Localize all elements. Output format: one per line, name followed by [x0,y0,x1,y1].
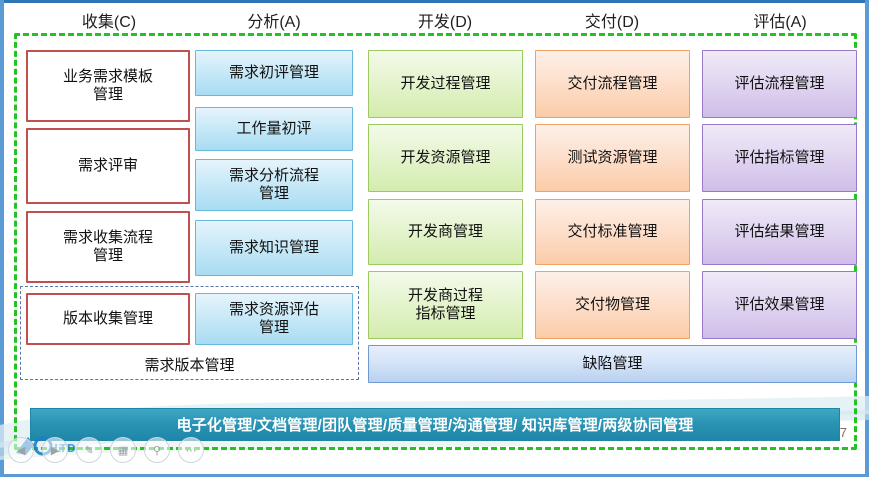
page-number: 7 [840,425,847,440]
card-develop-2-label: 开发资源管理 [400,149,490,167]
card-delivery-4[interactable]: 交付物管理 [535,271,690,339]
card-analysis-1[interactable]: 需求初评管理 [195,50,353,96]
slide-grid-button[interactable]: ▦ [110,437,136,463]
column-header-evaluate: 评估(A) [700,8,860,32]
column-header-analysis: 分析(A) [193,8,355,32]
card-collect-2[interactable]: 需求评审 [26,128,190,204]
card-evaluate-2[interactable]: 评估指标管理 [702,124,857,192]
card-delivery-1[interactable]: 交付流程管理 [535,50,690,118]
card-evaluate-2-label: 评估指标管理 [734,149,824,167]
card-analysis-4-label: 需求知识管理 [229,239,319,257]
card-evaluate-1-label: 评估流程管理 [734,75,824,93]
viewer-chrome: LTD ◀ ▶ ✎ ▦ ⚲ ⋯ [8,431,208,469]
column-header-collect-label: 收集(C) [82,14,136,31]
card-analysis-1-label: 需求初评管理 [229,64,319,82]
column-header-develop: 开发(D) [366,8,524,32]
next-slide-button[interactable]: ▶ [42,437,68,463]
column-header-analysis-label: 分析(A) [247,14,300,31]
card-develop-4-label: 开发商过程 指标管理 [408,287,483,322]
card-analysis-2-label: 工作量初评 [236,120,311,138]
column-header-develop-label: 开发(D) [418,14,472,31]
card-delivery-4-label: 交付物管理 [575,296,650,314]
card-collect-1-label: 业务需求模板 管理 [63,68,153,103]
column-header-evaluate-label: 评估(A) [753,14,806,31]
card-evaluate-4-label: 评估效果管理 [734,296,824,314]
version-management-group: 需求版本管理 [20,286,359,380]
card-delivery-2[interactable]: 测试资源管理 [535,124,690,192]
zoom-button[interactable]: ⚲ [144,437,170,463]
column-header-delivery-label: 交付(D) [585,14,639,31]
pen-tool-button[interactable]: ✎ [76,437,102,463]
card-analysis-4[interactable]: 需求知识管理 [195,220,353,276]
card-analysis-3-label: 需求分析流程 管理 [229,167,319,202]
card-develop-3[interactable]: 开发商管理 [368,199,523,265]
card-develop-2[interactable]: 开发资源管理 [368,124,523,192]
card-delivery-3-label: 交付标准管理 [567,223,657,241]
card-develop-1-label: 开发过程管理 [400,75,490,93]
column-header-collect: 收集(C) [26,8,192,32]
card-collect-3[interactable]: 需求收集流程 管理 [26,211,190,283]
slide-frame-top [0,0,869,3]
slide-frame-right [865,0,869,477]
more-options-button[interactable]: ⋯ [178,437,204,463]
card-analysis-3[interactable]: 需求分析流程 管理 [195,159,353,211]
page-number-label: 7 [840,425,847,440]
prev-slide-button[interactable]: ◀ [8,437,34,463]
card-delivery-3[interactable]: 交付标准管理 [535,199,690,265]
slide-canvas: 收集(C) 分析(A) 开发(D) 交付(D) 评估(A) 业务需求模板 管理 … [0,0,869,477]
card-evaluate-4[interactable]: 评估效果管理 [702,271,857,339]
card-collect-1[interactable]: 业务需求模板 管理 [26,50,190,122]
version-management-group-label: 需求版本管理 [21,354,358,375]
card-collect-2-label: 需求评审 [78,157,138,175]
card-delivery-2-label: 测试资源管理 [567,149,657,167]
slide-frame-left [0,0,4,477]
card-evaluate-3[interactable]: 评估结果管理 [702,199,857,265]
card-collect-3-label: 需求收集流程 管理 [63,229,153,264]
card-evaluate-3-label: 评估结果管理 [734,223,824,241]
card-develop-3-label: 开发商管理 [408,223,483,241]
card-evaluate-1[interactable]: 评估流程管理 [702,50,857,118]
column-header-delivery: 交付(D) [532,8,692,32]
card-analysis-2[interactable]: 工作量初评 [195,107,353,151]
card-develop-4[interactable]: 开发商过程 指标管理 [368,271,523,339]
card-develop-1[interactable]: 开发过程管理 [368,50,523,118]
card-defect-management[interactable]: 缺陷管理 [368,345,857,383]
card-defect-management-label: 缺陷管理 [582,355,642,373]
card-delivery-1-label: 交付流程管理 [567,75,657,93]
version-management-group-text: 需求版本管理 [144,357,234,374]
foundation-banner-label: 电子化管理/文档管理/团队管理/质量管理/沟通管理/ 知识库管理/两级协同管理 [177,414,694,435]
